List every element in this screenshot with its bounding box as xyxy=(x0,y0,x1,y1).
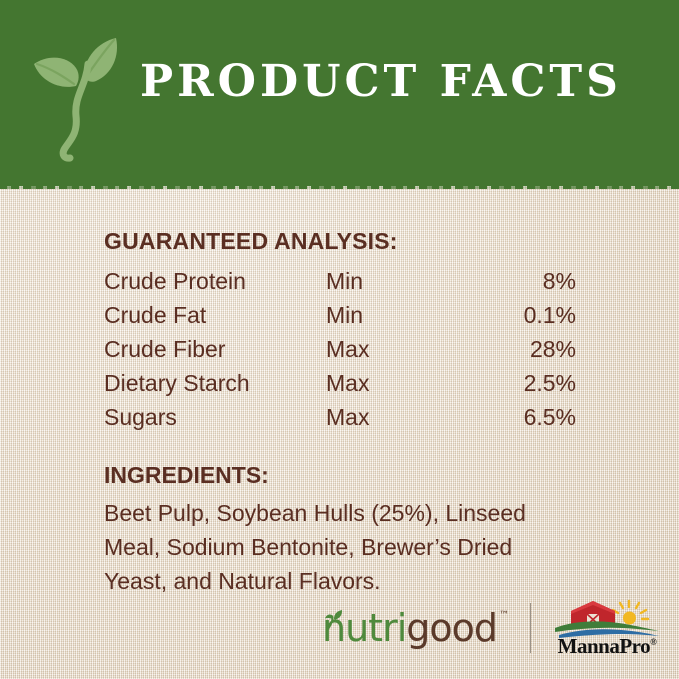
nutrient-value: 28% xyxy=(446,332,576,366)
table-row: Crude Protein Min 8% xyxy=(104,264,576,298)
ingredients-heading: INGREDIENTS: xyxy=(104,462,584,489)
nutrient-value: 0.1% xyxy=(446,298,576,332)
ingredients-section: INGREDIENTS: Beet Pulp, Soybean Hulls (2… xyxy=(104,462,584,598)
nutrient-name: Sugars xyxy=(104,400,326,434)
logo-divider xyxy=(530,603,531,653)
label-content: GUARANTEED ANALYSIS: Crude Protein Min 8… xyxy=(104,228,584,598)
nutrient-limit: Max xyxy=(326,400,446,434)
mannapro-wordmark-text: MannaPro xyxy=(558,634,650,658)
mannapro-logo: MannaPro® xyxy=(551,598,663,658)
ingredients-text: Beet Pulp, Soybean Hulls (25%), Linseed … xyxy=(104,496,574,598)
mannapro-wordmark: MannaPro® xyxy=(551,634,663,659)
nutrient-name: Crude Fat xyxy=(104,298,326,332)
nutrient-name: Dietary Starch xyxy=(104,366,326,400)
guaranteed-analysis-heading: GUARANTEED ANALYSIS: xyxy=(104,228,584,255)
nutrient-value: 2.5% xyxy=(446,366,576,400)
table-row: Crude Fat Min 0.1% xyxy=(104,298,576,332)
footer-logos: nutri good ™ xyxy=(0,595,679,661)
nutrigood-good-text: good xyxy=(406,609,497,647)
nutrient-limit: Min xyxy=(326,298,446,332)
table-row: Crude Fiber Max 28% xyxy=(104,332,576,366)
header-band: PRODUCT FACTS xyxy=(0,0,679,186)
product-facts-label: PRODUCT FACTS GUARANTEED ANALYSIS: Crude… xyxy=(0,0,679,679)
table-row: Dietary Starch Max 2.5% xyxy=(104,366,576,400)
nutrigood-logo: nutri good ™ xyxy=(322,609,508,647)
page-title: PRODUCT FACTS xyxy=(140,56,622,107)
table-row: Sugars Max 6.5% xyxy=(104,400,576,434)
nutrient-limit: Min xyxy=(326,264,446,298)
nutrient-value: 8% xyxy=(446,264,576,298)
leaf-sprout-icon xyxy=(323,598,345,618)
nutrient-limit: Max xyxy=(326,366,446,400)
registered-symbol: ® xyxy=(650,637,656,647)
nutrient-value: 6.5% xyxy=(446,400,576,434)
trademark-symbol: ™ xyxy=(499,611,508,621)
nutrient-limit: Max xyxy=(326,332,446,366)
nutrient-name: Crude Fiber xyxy=(104,332,326,366)
nutrient-name: Crude Protein xyxy=(104,264,326,298)
sprout-icon xyxy=(22,24,138,164)
guaranteed-analysis-table: Crude Protein Min 8% Crude Fat Min 0.1% … xyxy=(104,264,576,434)
